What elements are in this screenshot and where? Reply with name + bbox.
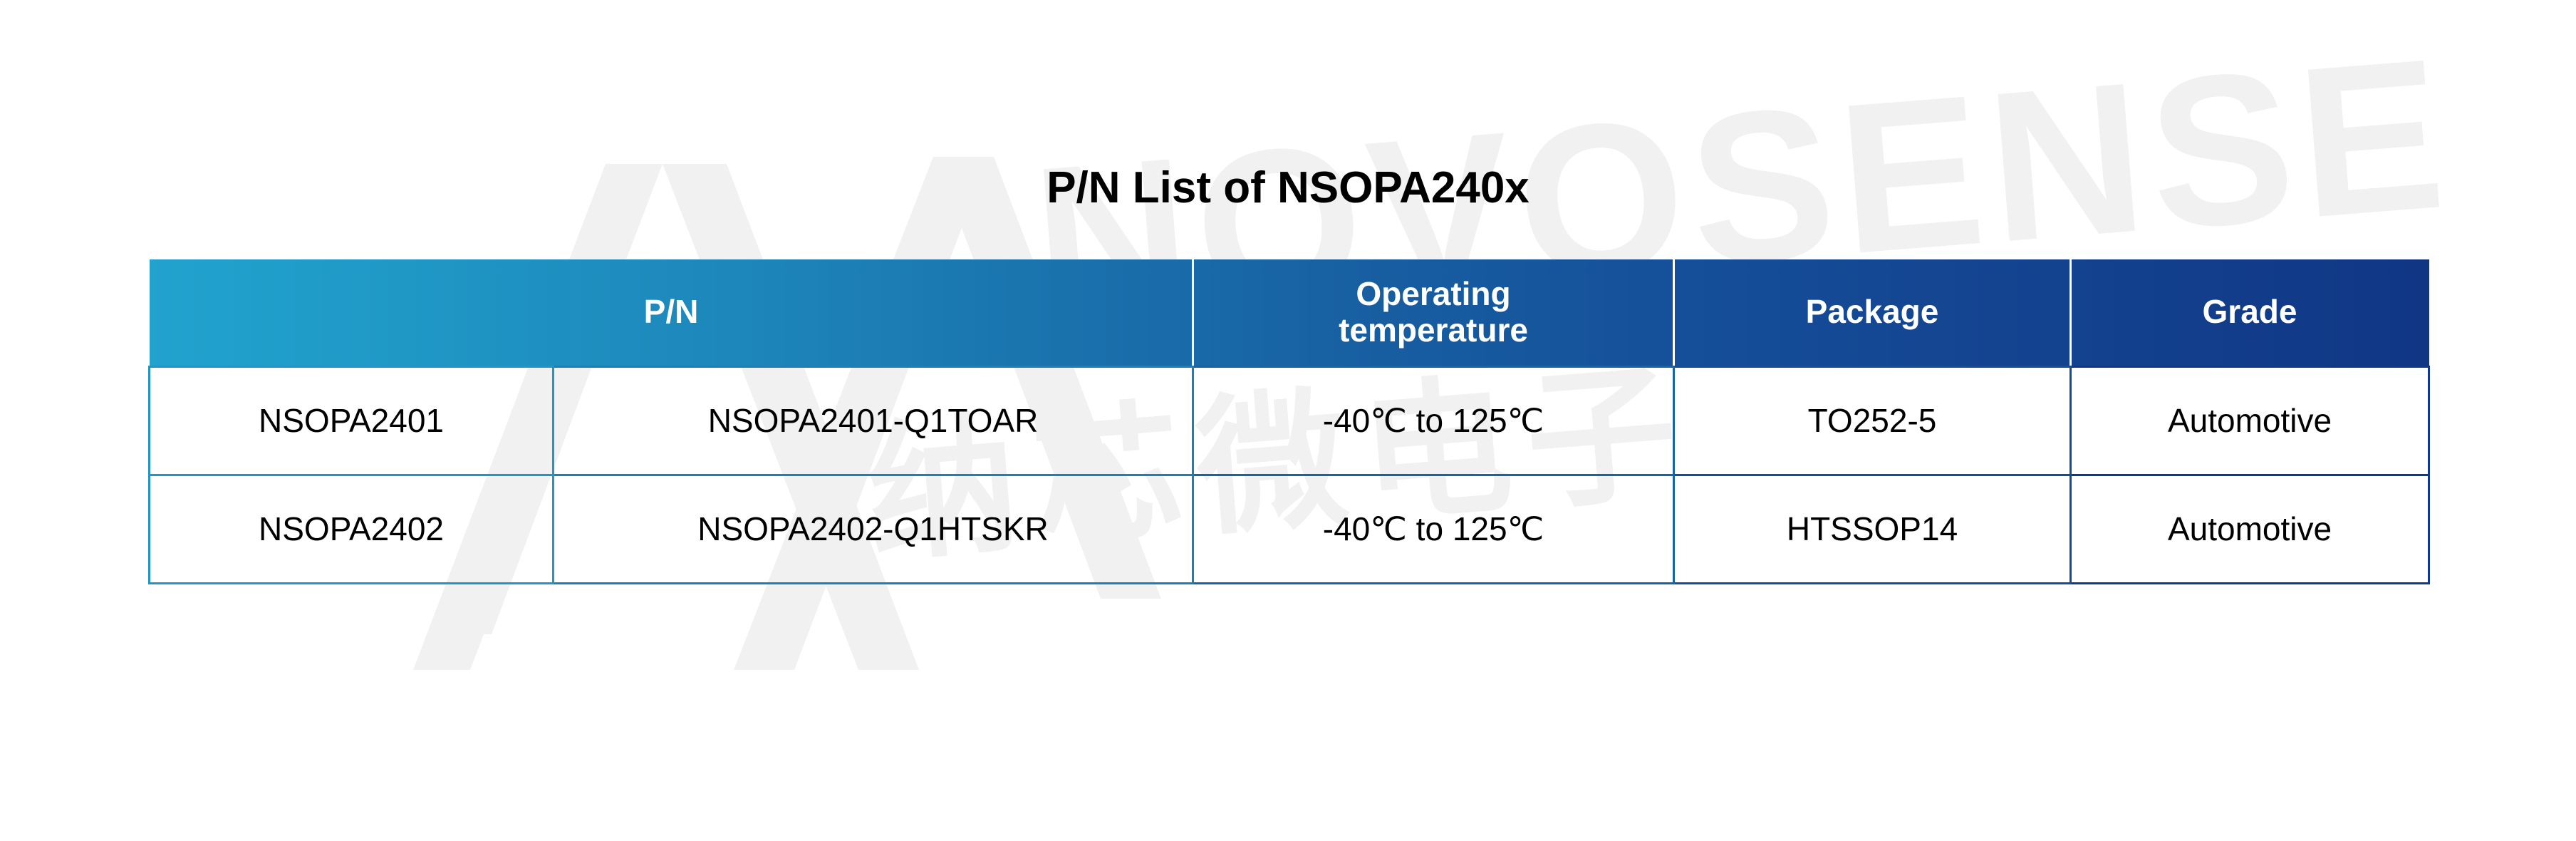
column-header-operating-temperature-line2: temperature (1339, 311, 1528, 349)
cell-pn: NSOPA2402 (150, 475, 554, 583)
pn-list-table-container: P/N Operating temperature Package Grade … (148, 259, 2428, 584)
cell-package: HTSSOP14 (1674, 475, 2071, 583)
cell-order-number: NSOPA2401-Q1TOAR (554, 366, 1193, 475)
column-header-package-label: Package (1806, 293, 1939, 330)
column-header-grade: Grade (2071, 259, 2429, 366)
cell-pn: NSOPA2401 (150, 366, 554, 475)
cell-operating-temperature: -40℃ to 125℃ (1193, 475, 1674, 583)
table-row: NSOPA2401 NSOPA2401-Q1TOAR -40℃ to 125℃ … (150, 366, 2429, 475)
column-header-pn-label: P/N (644, 293, 699, 330)
cell-operating-temperature: -40℃ to 125℃ (1193, 366, 1674, 475)
column-header-pn: P/N (150, 259, 1193, 366)
table-body: NSOPA2401 NSOPA2401-Q1TOAR -40℃ to 125℃ … (150, 366, 2429, 583)
pn-list-table: P/N Operating temperature Package Grade … (148, 259, 2430, 584)
table-header-row: P/N Operating temperature Package Grade (150, 259, 2429, 366)
page-title: P/N List of NSOPA240x (0, 162, 2576, 213)
column-header-package: Package (1674, 259, 2071, 366)
column-header-grade-label: Grade (2203, 293, 2297, 330)
column-header-operating-temperature-line1: Operating (1356, 275, 1510, 312)
cell-grade: Automotive (2071, 366, 2429, 475)
cell-grade: Automotive (2071, 475, 2429, 583)
column-header-operating-temperature: Operating temperature (1193, 259, 1674, 366)
cell-order-number: NSOPA2402-Q1HTSKR (554, 475, 1193, 583)
table-row: NSOPA2402 NSOPA2402-Q1HTSKR -40℃ to 125℃… (150, 475, 2429, 583)
cell-package: TO252-5 (1674, 366, 2071, 475)
table-header: P/N Operating temperature Package Grade (150, 259, 2429, 366)
